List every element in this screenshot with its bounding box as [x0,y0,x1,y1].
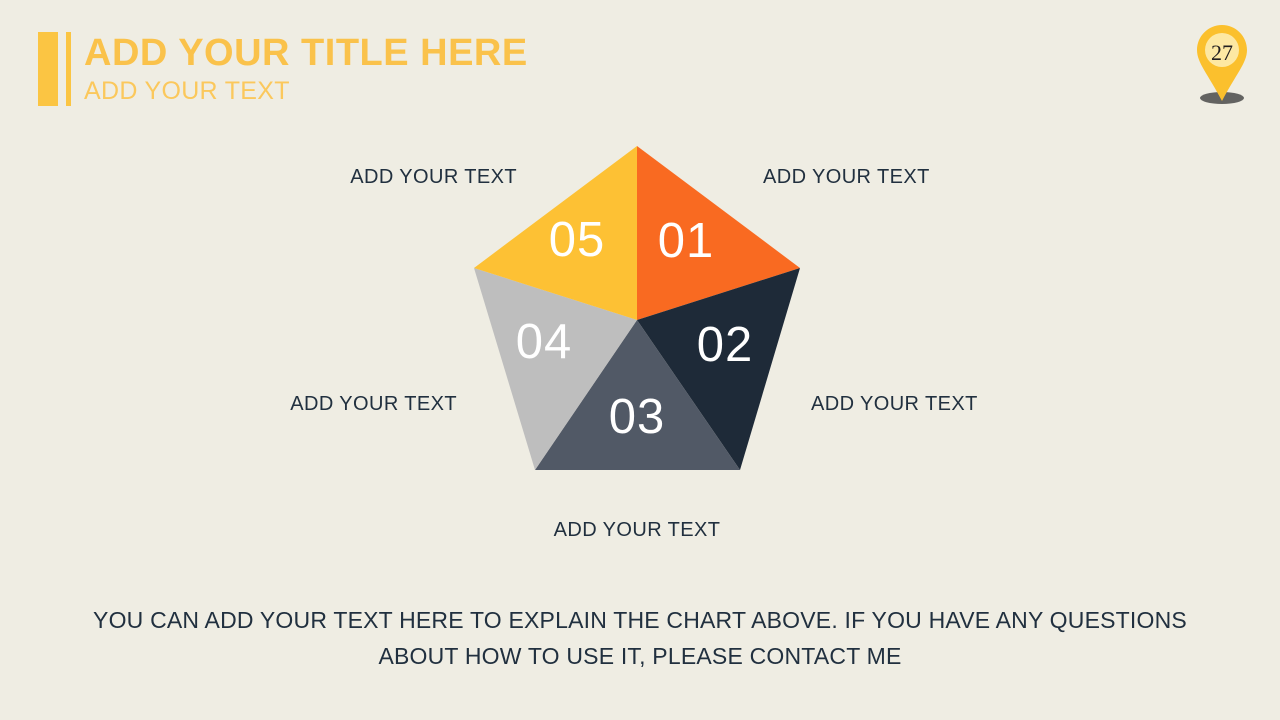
segment-label-04: ADD YOUR TEXT [290,393,457,416]
footer-description: YOU CAN ADD YOUR TEXT HERE TO EXPLAIN TH… [90,602,1190,674]
footer-line-2: ABOUT HOW TO USE IT, PLEASE CONTACT ME [90,638,1190,674]
segment-label-05: ADD YOUR TEXT [350,166,517,189]
segment-label-03: ADD YOUR TEXT [554,519,721,542]
wedge-number-02: 02 [697,318,754,372]
slide-canvas: ADD YOUR TITLE HERE ADD YOUR TEXT 27 01 … [0,0,1280,720]
segment-label-02: ADD YOUR TEXT [811,393,978,416]
wedge-number-01: 01 [658,214,715,268]
footer-line-1: YOU CAN ADD YOUR TEXT HERE TO EXPLAIN TH… [90,602,1190,638]
segment-label-01: ADD YOUR TEXT [763,166,930,189]
wedge-number-05: 05 [549,213,606,267]
wedge-number-03: 03 [609,390,666,444]
wedge-number-04: 04 [516,315,573,369]
pentagon-chart: 01 02 03 04 05 [0,0,1280,560]
pentagon-chart-svg: 01 02 03 04 05 [0,0,1280,560]
